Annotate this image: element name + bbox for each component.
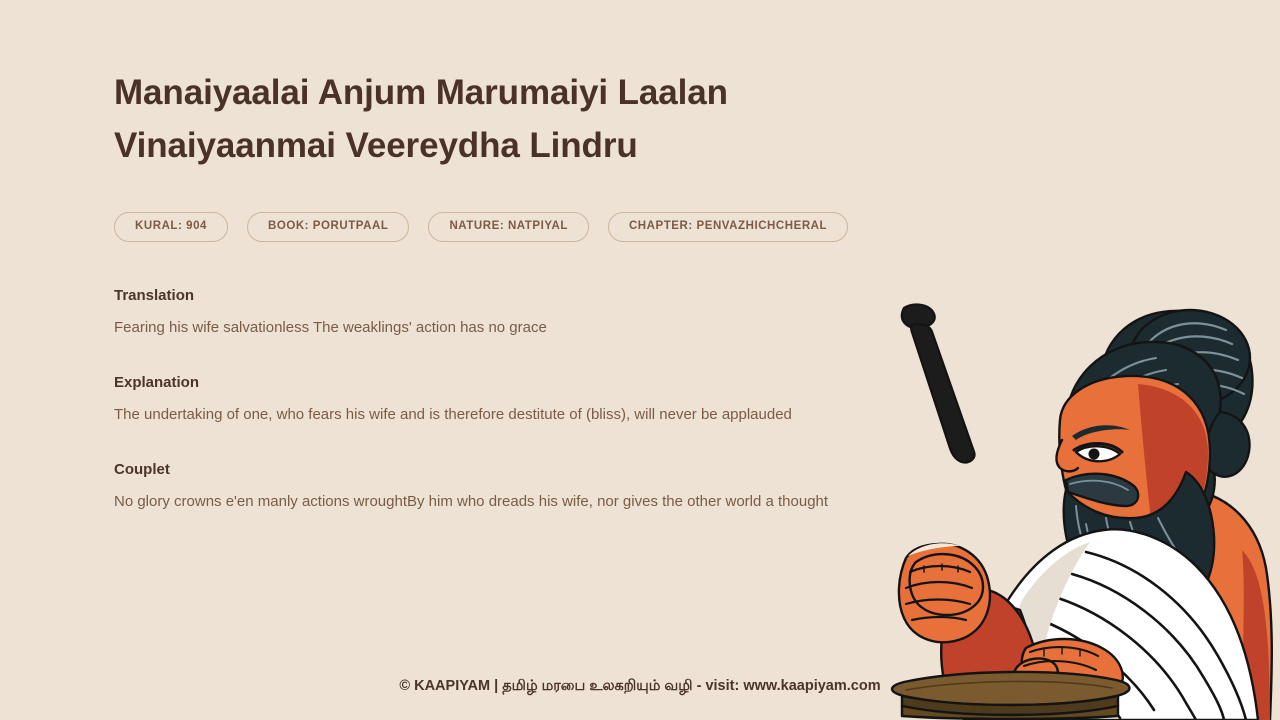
writing-stylus (902, 305, 974, 463)
sage-forearm (941, 589, 1038, 720)
translation-heading: Translation (114, 287, 874, 304)
badge-book[interactable]: BOOK: PORUTPAAL (247, 212, 409, 242)
translation-text: Fearing his wife salvationless The weakl… (114, 317, 834, 339)
page-title: Manaiyaalai Anjum Marumaiyi Laalan Vinai… (114, 66, 814, 172)
sage-fist (899, 543, 990, 642)
section-translation: Translation Fearing his wife salvationle… (114, 287, 874, 339)
sage-neck (1140, 440, 1212, 508)
section-explanation: Explanation The undertaking of one, who … (114, 374, 874, 426)
sage-eyebrow (1072, 425, 1130, 440)
section-couplet: Couplet No glory crowns e'en manly actio… (114, 461, 874, 513)
explanation-text: The undertaking of one, who fears his wi… (114, 404, 834, 426)
kural-card: Manaiyaalai Anjum Marumaiyi Laalan Vinai… (114, 66, 874, 513)
sage-hair-back (1101, 311, 1252, 531)
badge-kural-number[interactable]: KURAL: 904 (114, 212, 228, 242)
sage-moustache (1066, 474, 1138, 506)
sage-eye (1076, 446, 1120, 461)
sage-hair-front (1066, 342, 1221, 471)
sage-hair-bun (1130, 310, 1250, 406)
explanation-heading: Explanation (114, 374, 874, 391)
sage-beard (1064, 472, 1214, 622)
couplet-heading: Couplet (114, 461, 874, 478)
badge-nature[interactable]: NATURE: NATPIYAL (428, 212, 588, 242)
sage-side-lock (1206, 412, 1250, 477)
badge-chapter[interactable]: CHAPTER: PENVAZHICHCHERAL (608, 212, 848, 242)
couplet-text: No glory crowns e'en manly actions wroug… (114, 491, 834, 513)
footer-credit: © KAAPIYAM | தமிழ் மரபை உலகறியும் வழி - … (0, 678, 1280, 696)
thiruvalluvar-sage-writing-illustration (890, 300, 1280, 720)
sage-nose (1056, 440, 1078, 471)
sage-face (1059, 376, 1210, 554)
badge-row: KURAL: 904 BOOK: PORUTPAAL NATURE: NATPI… (114, 212, 874, 242)
sage-left-arm (964, 606, 1040, 720)
